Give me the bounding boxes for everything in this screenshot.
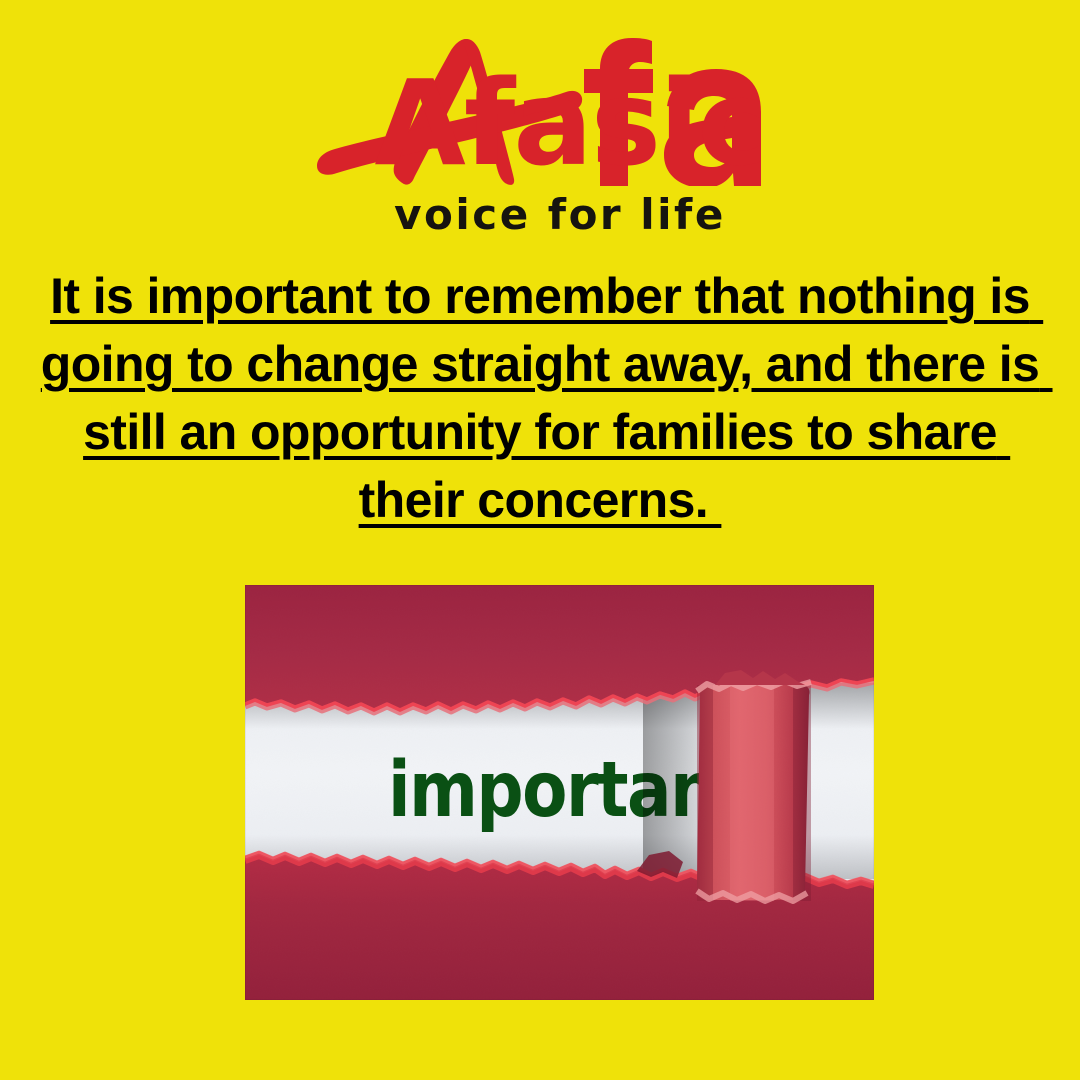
logo-tagline: voice for life — [0, 191, 1080, 239]
headline-text: It is important to remember that nothing… — [41, 268, 1053, 528]
afasic-logo: Afasic voice for life — [0, 36, 1080, 226]
paper-curl — [697, 670, 811, 901]
page-headline: It is important to remember that nothing… — [24, 262, 1056, 534]
torn-paper-photo: important — [245, 585, 874, 1000]
poster-canvas: Afasic voice for life It is important to… — [0, 0, 1080, 1080]
afasic-wordmark-icon — [300, 36, 780, 186]
